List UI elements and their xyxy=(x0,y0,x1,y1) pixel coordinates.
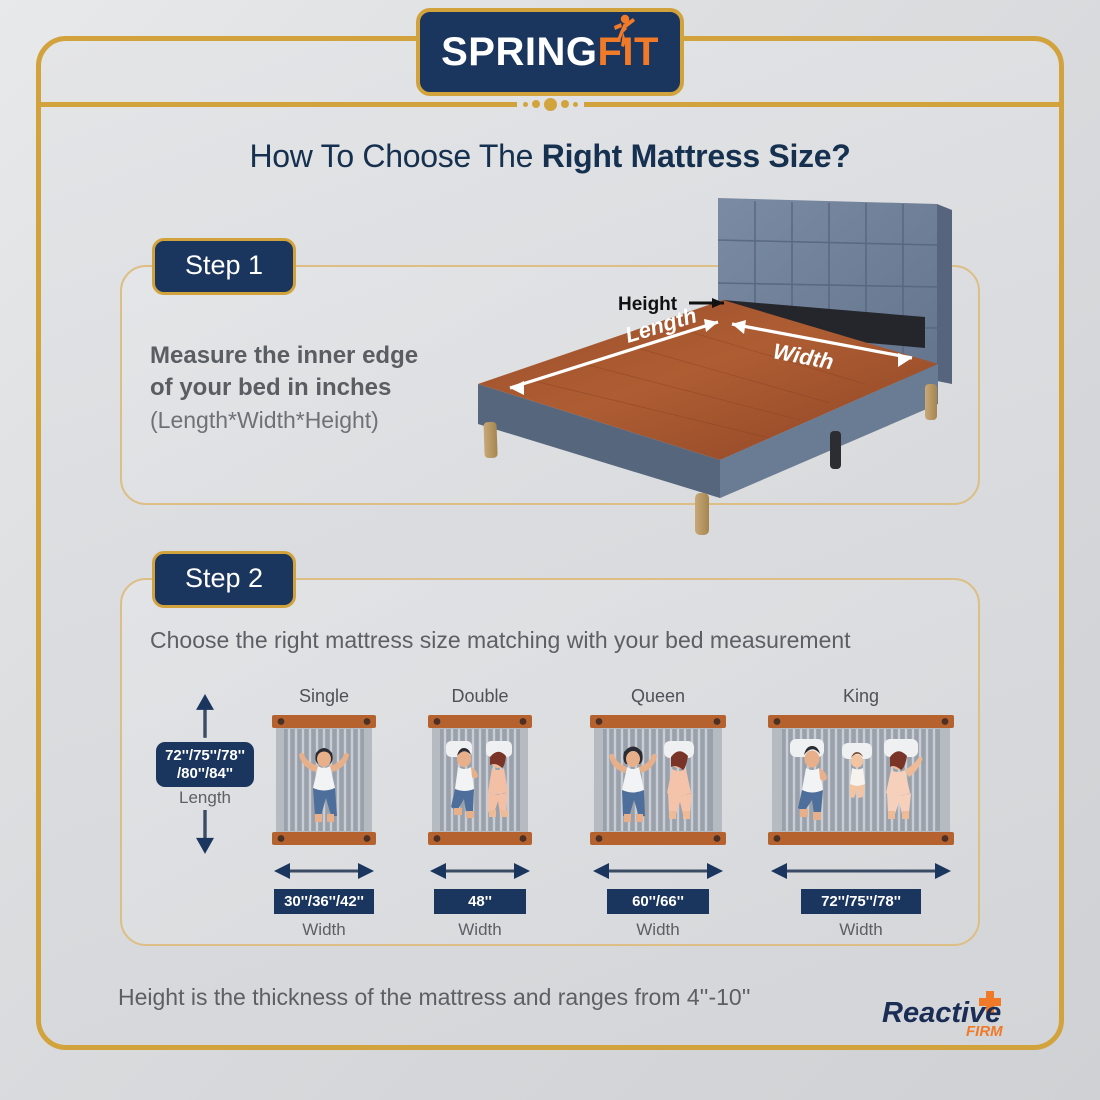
length-axis-group: 72''/75''/78'' /80''/84'' Length xyxy=(150,694,260,854)
mattress-illustration-single xyxy=(272,715,376,845)
mattress-image-queen xyxy=(590,715,726,850)
divider-dot-icon xyxy=(523,102,528,107)
length-arrow-up-icon xyxy=(195,694,215,740)
brand-logo-primary: SPRING xyxy=(441,30,597,75)
mattress-size-comparison: 72''/75''/78'' /80''/84'' Length Single xyxy=(150,686,950,936)
step-2-badge: Step 2 xyxy=(152,551,296,608)
mattress-illustration-queen xyxy=(590,715,726,845)
step-1-line-1: Measure the inner edge xyxy=(150,340,480,372)
width-arrow-king xyxy=(771,862,951,885)
mattress-illustration-king xyxy=(768,715,954,845)
length-value-badge: 72''/75''/78'' /80''/84'' xyxy=(156,742,254,787)
length-value-line-1: 72''/75''/78'' xyxy=(165,747,245,765)
mattress-column-king[interactable]: King xyxy=(768,686,954,940)
page-title-bold: Right Mattress Size? xyxy=(542,138,851,174)
page-title-plain: How To Choose The xyxy=(250,138,542,174)
length-value-line-2: /80''/84'' xyxy=(165,765,245,783)
reactive-logo-svg: Reactive FIRM xyxy=(882,988,1032,1040)
length-arrow-down-icon xyxy=(195,808,215,854)
bed-illustration-svg: Length Width Height xyxy=(470,188,970,536)
partner-logo-reactive: Reactive FIRM xyxy=(882,988,1032,1040)
divider-dot-icon xyxy=(573,102,578,107)
width-arrow-icon xyxy=(771,862,951,880)
divider-dot-icon xyxy=(544,98,557,111)
footer-note: Height is the thickness of the mattress … xyxy=(118,984,750,1011)
width-label-double: Width xyxy=(458,920,501,940)
step-2-instructions: Choose the right mattress size matching … xyxy=(150,625,870,656)
width-label-queen: Width xyxy=(636,920,679,940)
step-1-badge: Step 1 xyxy=(152,238,296,295)
width-arrow-double xyxy=(430,862,530,885)
width-label-king: Width xyxy=(839,920,882,940)
mattress-title-king: King xyxy=(843,686,879,707)
divider-dot-icon xyxy=(532,100,540,108)
divider-dot-icon xyxy=(561,100,569,108)
width-arrow-icon xyxy=(430,862,530,880)
brand-logo-text: SPRING FIT xyxy=(441,30,659,75)
page-title: How To Choose The Right Mattress Size? xyxy=(0,138,1100,175)
width-value-king: 72''/75''/78'' xyxy=(801,889,921,914)
brand-logo: SPRING FIT xyxy=(416,8,684,96)
mattress-image-single xyxy=(272,715,376,850)
width-arrow-icon xyxy=(593,862,723,880)
bed-illustration: Length Width Height xyxy=(470,188,970,536)
running-figure-icon xyxy=(611,14,637,48)
width-value-single: 30''/36''/42'' xyxy=(274,889,374,914)
mattress-image-double xyxy=(428,715,532,850)
firm-wordmark: FIRM xyxy=(966,1023,1003,1040)
width-label-single: Width xyxy=(302,920,345,940)
length-axis-label: Length xyxy=(179,788,231,808)
divider-dot-ornament xyxy=(517,98,584,111)
mattress-title-double: Double xyxy=(451,686,508,707)
divider-line-left xyxy=(36,102,517,107)
mattress-column-queen[interactable]: Queen xyxy=(590,686,726,940)
mattress-column-double[interactable]: Double xyxy=(428,686,532,940)
mattress-illustration-double xyxy=(428,715,532,845)
mattress-title-single: Single xyxy=(299,686,349,707)
width-arrow-icon xyxy=(274,862,374,880)
width-arrow-single xyxy=(274,862,374,885)
width-value-queen: 60''/66'' xyxy=(607,889,709,914)
mattress-column-single[interactable]: Single xyxy=(272,686,376,940)
header-divider xyxy=(36,98,1064,110)
bed-label-height: Height xyxy=(618,294,678,315)
step-1-line-2: of your bed in inches xyxy=(150,372,480,404)
width-arrow-queen xyxy=(593,862,723,885)
mattress-image-king xyxy=(768,715,954,850)
step-1-instructions: Measure the inner edge of your bed in in… xyxy=(150,340,480,436)
width-value-double: 48'' xyxy=(434,889,526,914)
divider-line-right xyxy=(584,102,1065,107)
step-1-line-3: (Length*Width*Height) xyxy=(150,405,480,435)
mattress-title-queen: Queen xyxy=(631,686,685,707)
